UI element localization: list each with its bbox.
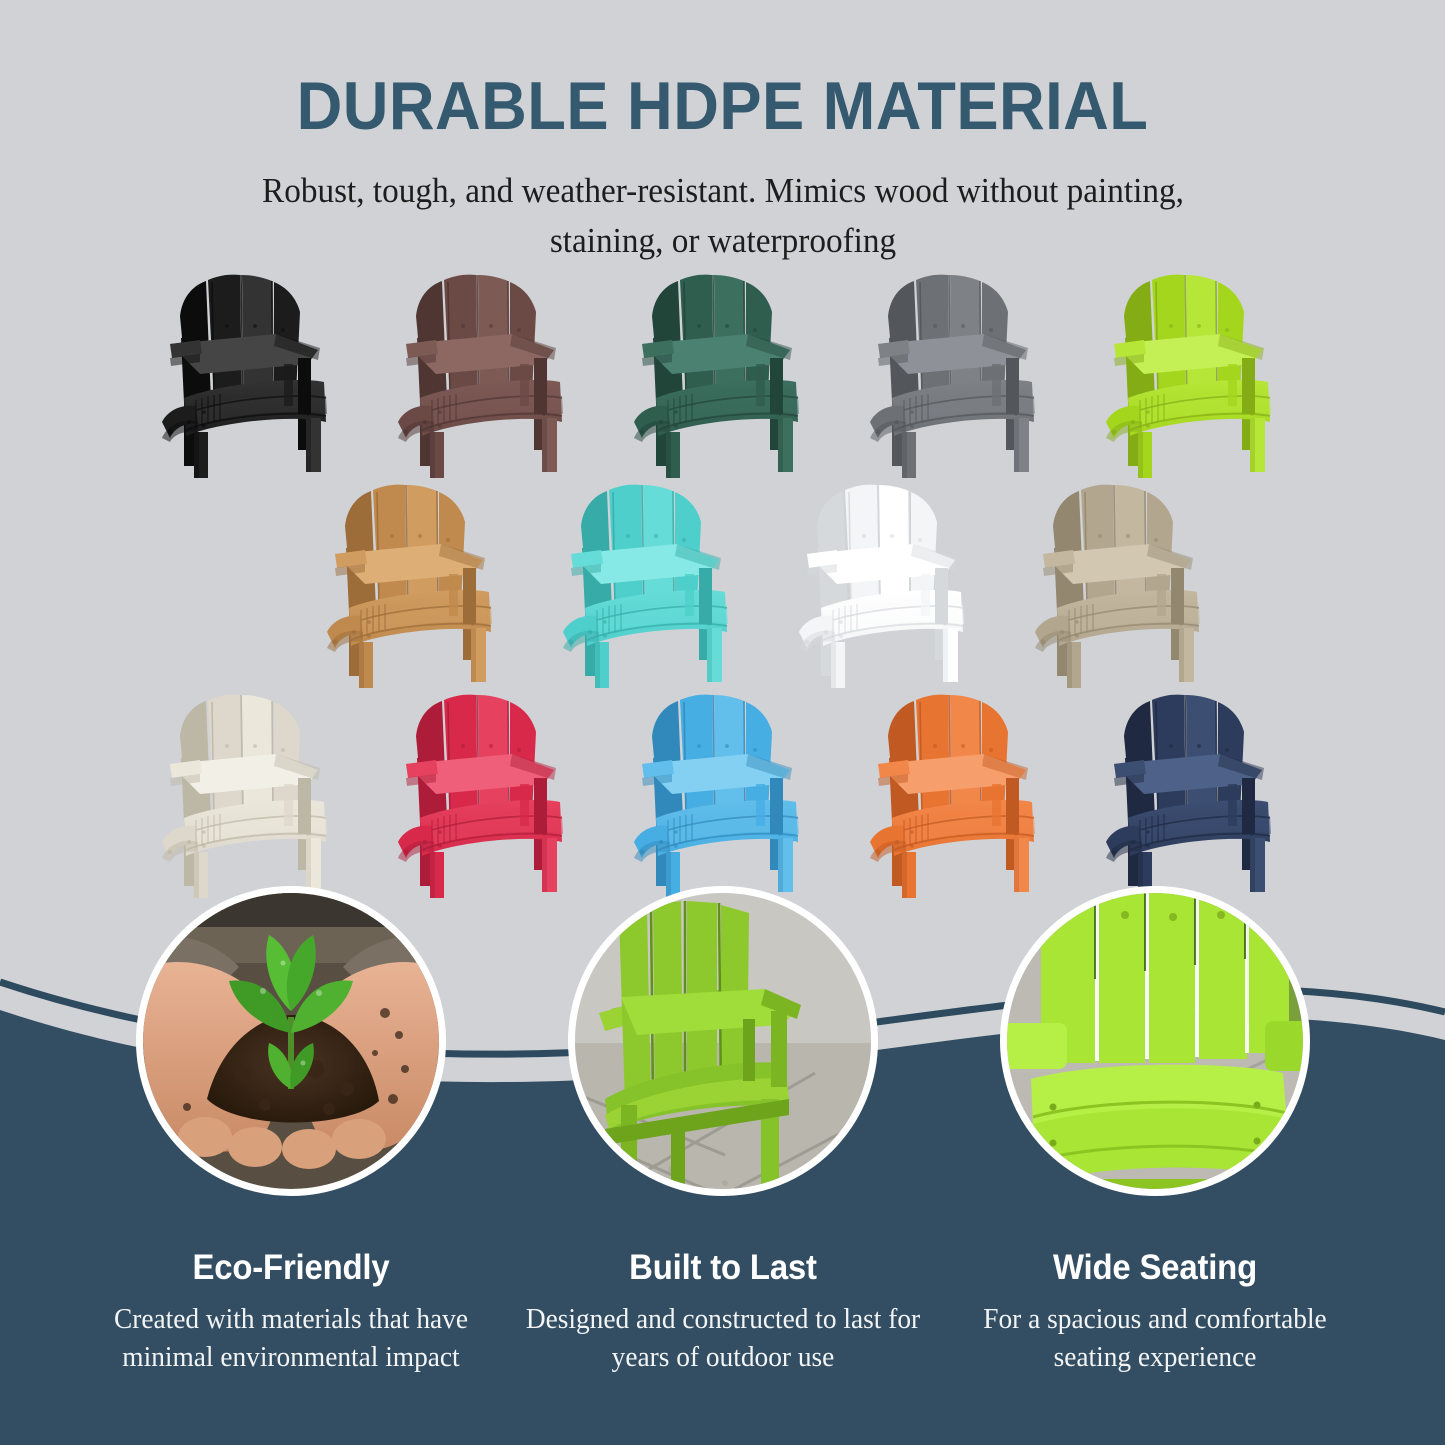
feature-description: For a spacious and comfortable seating e… xyxy=(953,1301,1356,1377)
feature-description: Created with materials that have minimal… xyxy=(79,1301,501,1377)
feature-eco-friendly: Eco-Friendly Created with materials that… xyxy=(121,886,461,1377)
chair-swatch-brown[interactable] xyxy=(369,268,605,480)
chair-swatch-dark-green[interactable] xyxy=(605,268,841,480)
chair-swatch-weathered-wood[interactable] xyxy=(1006,478,1242,690)
chair-graphic xyxy=(620,692,826,900)
page-subtitle: Robust, tough, and weather-resistant. Mi… xyxy=(248,166,1198,265)
chair-swatch-teak[interactable] xyxy=(298,478,534,690)
feature-built-to-last: Built to Last Designed and constructed t… xyxy=(553,886,893,1377)
chair-graphic xyxy=(620,272,826,480)
chair-graphic xyxy=(1092,692,1298,900)
chair-swatch-turquoise[interactable] xyxy=(534,478,770,690)
chair-graphic xyxy=(1092,272,1298,480)
chair-row-1 xyxy=(0,268,1445,480)
chair-graphic xyxy=(384,692,590,900)
chair-swatch-red[interactable] xyxy=(369,688,605,900)
chair-swatch-black[interactable] xyxy=(133,268,369,480)
feature-photo-eco-friendly xyxy=(136,886,446,1196)
chair-graphic xyxy=(785,482,991,690)
chair-graphic xyxy=(313,482,519,690)
chair-graphic xyxy=(549,482,755,690)
chair-swatch-gray[interactable] xyxy=(841,268,1077,480)
hero-section: DURABLE HDPE MATERIAL Robust, tough, and… xyxy=(0,0,1445,265)
chair-color-grid xyxy=(0,268,1445,900)
chair-graphic xyxy=(384,272,590,480)
chair-swatch-orange[interactable] xyxy=(841,688,1077,900)
feature-row: Eco-Friendly Created with materials that… xyxy=(0,886,1445,1377)
feature-title: Built to Last xyxy=(563,1248,883,1288)
chair-graphic xyxy=(856,692,1062,900)
chair-graphic xyxy=(148,692,354,900)
chair-row-3 xyxy=(0,688,1445,900)
feature-description: Designed and constructed to last for yea… xyxy=(521,1301,924,1377)
chair-graphic xyxy=(148,272,354,480)
infographic-canvas: DURABLE HDPE MATERIAL Robust, tough, and… xyxy=(0,0,1445,1445)
feature-title: Eco-Friendly xyxy=(131,1248,451,1288)
chair-swatch-lime-green[interactable] xyxy=(1077,268,1313,480)
chair-row-2 xyxy=(0,478,1445,690)
feature-callouts: Eco-Friendly Created with materials that… xyxy=(0,886,1445,1377)
chair-swatch-light-blue[interactable] xyxy=(605,688,841,900)
chair-graphic xyxy=(1021,482,1227,690)
feature-photo-wide-seating xyxy=(1000,886,1310,1196)
feature-wide-seating: Wide Seating For a spacious and comforta… xyxy=(985,886,1325,1377)
chair-swatch-navy[interactable] xyxy=(1077,688,1313,900)
chair-graphic xyxy=(856,272,1062,480)
chair-swatch-ivory[interactable] xyxy=(133,688,369,900)
feature-title: Wide Seating xyxy=(995,1248,1315,1288)
feature-photo-built-to-last xyxy=(568,886,878,1196)
page-title: DURABLE HDPE MATERIAL xyxy=(51,0,1395,140)
chair-swatch-white[interactable] xyxy=(770,478,1006,690)
